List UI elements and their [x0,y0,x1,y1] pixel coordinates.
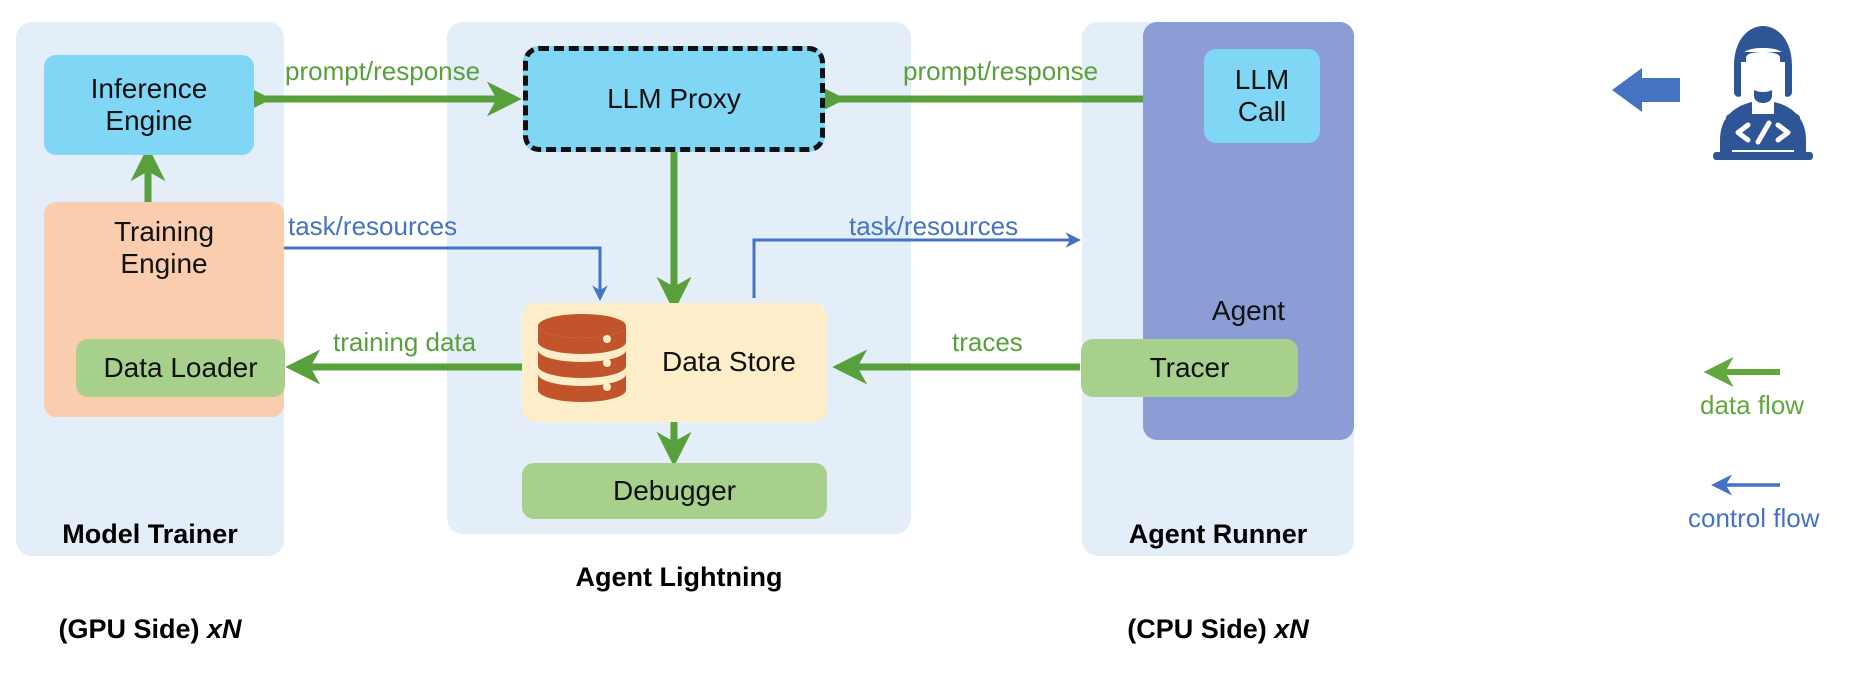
node-tracer[interactable]: Tracer [1081,339,1298,397]
node-inference-engine[interactable]: Inference Engine [44,55,254,155]
label-prompt-response-left: prompt/response [285,56,480,87]
node-agent-label: Agent [1212,295,1285,327]
caption-agent-runner-line2: (CPU Side) xN [1082,583,1354,647]
caption-model-trainer-line2: (GPU Side) xN [16,583,284,647]
label-task-resources-left: task/resources [288,211,457,242]
caption-mt-xn: xN [207,614,242,644]
caption-ar-side: (CPU Side) [1127,614,1274,644]
caption-agent-lightning: Agent Lightning [447,530,911,626]
label-task-resources-right: task/resources [849,211,1018,242]
caption-agent-lightning-line1: Agent Lightning [447,562,911,594]
node-data-store-label: Data Store [662,346,796,378]
node-training-engine-label: Training Engine [114,216,214,281]
node-debugger[interactable]: Debugger [522,463,827,519]
legend-control-flow-label: control flow [1688,503,1820,534]
caption-ar-xn: xN [1274,614,1309,644]
architecture-diagram: Inference Engine Training Engine Data Lo… [0,0,1852,684]
node-llm-call[interactable]: LLM Call [1204,49,1320,143]
caption-model-trainer: Model Trainer (GPU Side) xN [16,487,284,678]
database-icon [534,314,630,412]
developer-icon [1700,22,1826,162]
label-training-data: training data [333,327,476,358]
caption-mt-side: (GPU Side) [58,614,207,644]
caption-model-trainer-line1: Model Trainer [16,519,284,551]
label-prompt-response-right: prompt/response [903,56,1098,87]
caption-agent-runner-line1: Agent Runner [1082,519,1354,551]
node-data-loader[interactable]: Data Loader [76,339,285,397]
caption-agent-runner: Agent Runner (CPU Side) xN [1082,487,1354,678]
arrow-developer-to-runner [1612,68,1680,112]
label-traces: traces [952,327,1023,358]
legend-data-flow-label: data flow [1700,390,1804,421]
node-llm-proxy[interactable]: LLM Proxy [523,46,825,152]
